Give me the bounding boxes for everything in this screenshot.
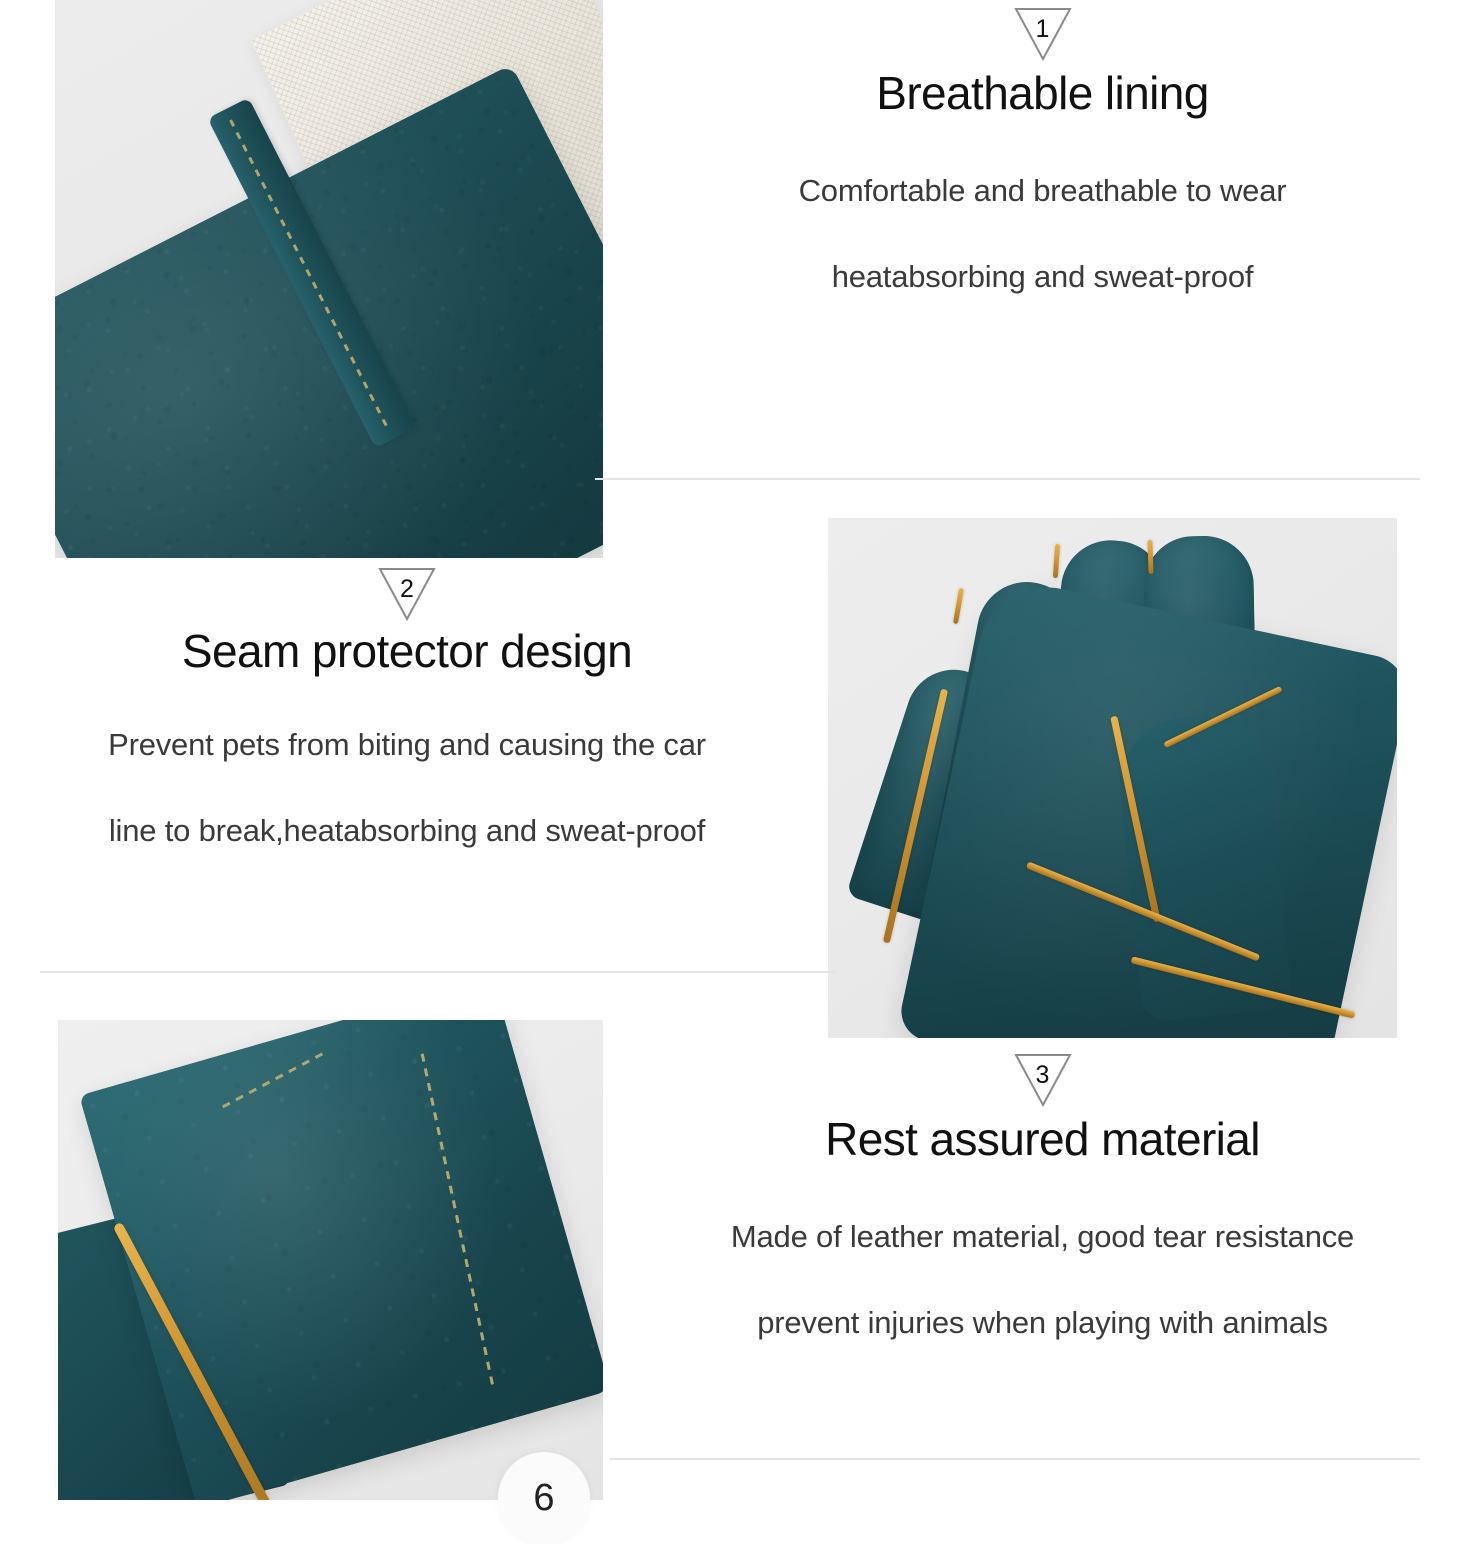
- feature-1-marker-wrap: 1: [620, 6, 1465, 62]
- feature-3-number: 3: [1036, 1052, 1050, 1088]
- feature-3-line-1: Made of leather material, good tear resi…: [620, 1220, 1465, 1254]
- photo-content: [58, 1020, 603, 1500]
- photo-content: [55, 0, 603, 558]
- section-divider-2: [40, 971, 835, 973]
- feature-1-line-2: heatabsorbing and sweat-proof: [620, 260, 1465, 294]
- section-divider-1: [595, 478, 1420, 480]
- photo-content: [828, 518, 1397, 1038]
- feature-1-title: Breathable lining: [620, 68, 1465, 120]
- feature-image-leather-closeup: [58, 1020, 603, 1500]
- watermark-badge: 6: [498, 1452, 590, 1544]
- feature-block-2: 2 Seam protector design Prevent pets fro…: [0, 566, 822, 848]
- feature-2-title: Seam protector design: [0, 626, 822, 678]
- feature-block-1: 1 Breathable lining Comfortable and brea…: [620, 6, 1465, 294]
- section-divider-3: [610, 1458, 1420, 1460]
- feature-3-title: Rest assured material: [620, 1114, 1465, 1166]
- infographic-page: 1 Breathable lining Comfortable and brea…: [0, 0, 1465, 1500]
- down-triangle-icon: 1: [1012, 6, 1074, 62]
- feature-2-number: 2: [400, 566, 414, 602]
- feature-image-breathable-lining: [55, 0, 603, 558]
- feature-2-line-1: Prevent pets from biting and causing the…: [0, 728, 822, 762]
- feature-1-line-1: Comfortable and breathable to wear: [620, 174, 1465, 208]
- feature-1-number: 1: [1036, 6, 1050, 42]
- watermark-glyph: 6: [533, 1477, 554, 1520]
- feature-2-marker-wrap: 2: [0, 566, 822, 622]
- feature-3-line-2: prevent injuries when playing with anima…: [620, 1306, 1465, 1340]
- feature-block-3: 3 Rest assured material Made of leather …: [620, 1052, 1465, 1340]
- feature-2-line-2: line to break,heatabsorbing and sweat-pr…: [0, 814, 822, 848]
- down-triangle-icon: 2: [376, 566, 438, 622]
- feature-image-seam-protector: [828, 518, 1397, 1038]
- feature-3-marker-wrap: 3: [620, 1052, 1465, 1108]
- down-triangle-icon: 3: [1012, 1052, 1074, 1108]
